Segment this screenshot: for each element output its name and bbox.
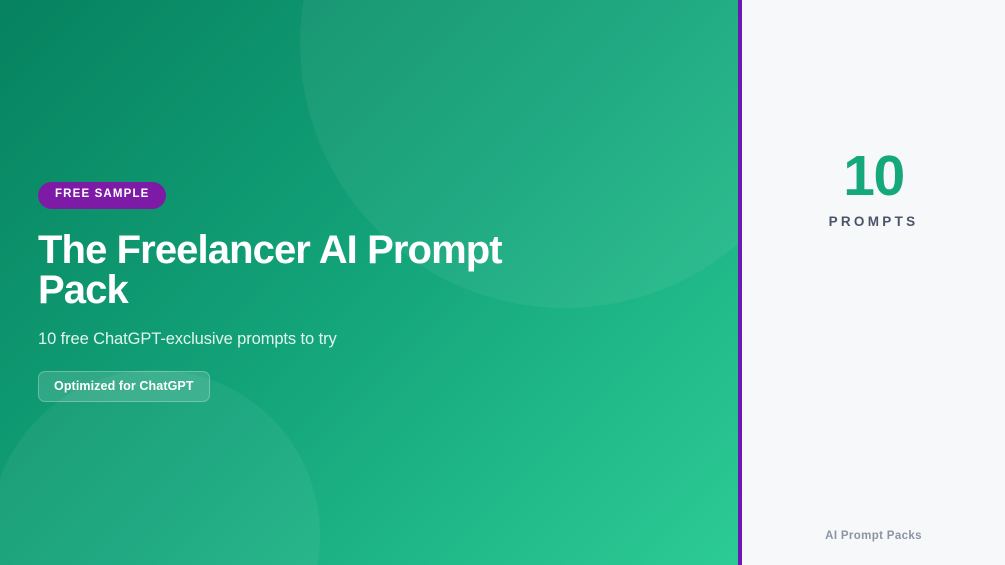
info-panel: 10 PROMPTS Custom GPTs & Deep Research xyxy=(742,0,1005,565)
free-sample-badge: FREE SAMPLE xyxy=(38,182,166,209)
panel-footer-brand: AI Prompt Packs xyxy=(742,530,1005,542)
hero-title: The Freelancer AI Prompt Pack xyxy=(38,230,508,310)
prompt-count-number: 10 xyxy=(742,148,1005,205)
hero-subtitle: 10 free ChatGPT-exclusive prompts to try xyxy=(38,330,678,349)
feature-list: Custom GPTs & Deep Research Canvas & Ima… xyxy=(742,252,1005,395)
hero-content: FREE SAMPLE The Freelancer AI Prompt Pac… xyxy=(38,182,678,402)
hero-panel: FREE SAMPLE The Freelancer AI Prompt Pac… xyxy=(0,0,738,565)
promo-card: FREE SAMPLE The Freelancer AI Prompt Pac… xyxy=(0,0,1005,565)
prompt-count-label: PROMPTS xyxy=(742,214,1005,229)
prompt-count-block: 10 PROMPTS xyxy=(742,148,1005,229)
optimized-for-chatgpt-chip: Optimized for ChatGPT xyxy=(38,371,210,403)
